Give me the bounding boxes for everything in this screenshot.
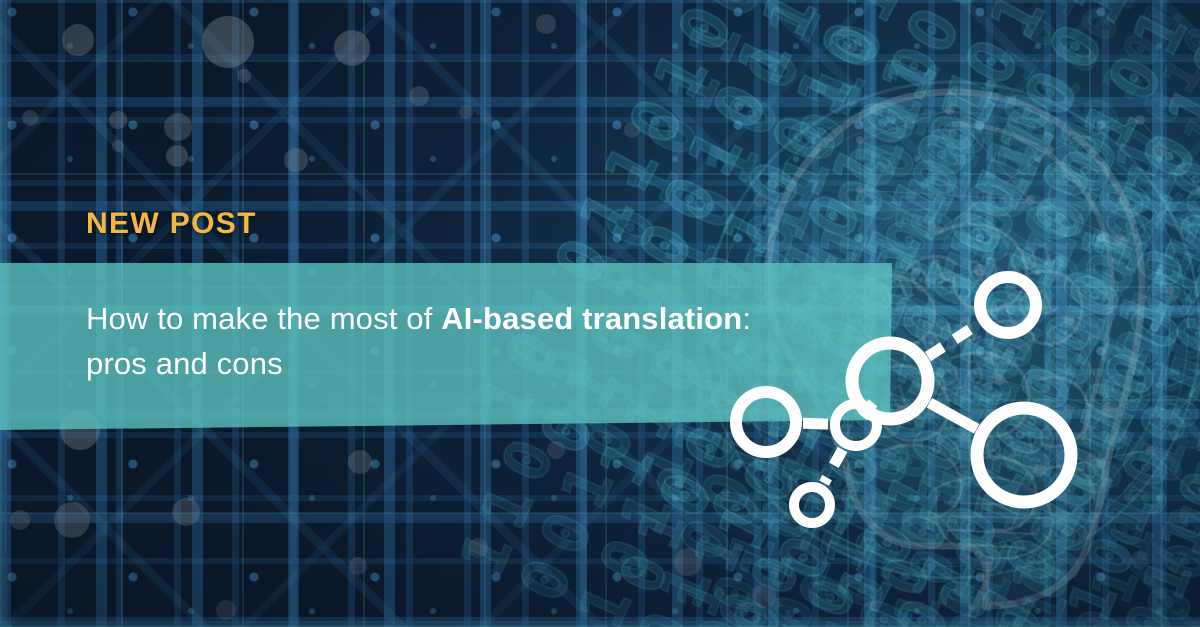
headline-part-pre: How to make the most of — [86, 301, 441, 336]
headline-part-strong: AI-based translation — [441, 301, 742, 336]
headline-part-post: : — [742, 301, 751, 336]
banner-image: 1010110100101 0101001011010 110101001011… — [0, 0, 1200, 627]
eyebrow-label: NEW POST — [86, 207, 257, 241]
headline-line-two: pros and cons — [86, 346, 283, 381]
page-title: How to make the most of AI-based transla… — [86, 297, 876, 387]
